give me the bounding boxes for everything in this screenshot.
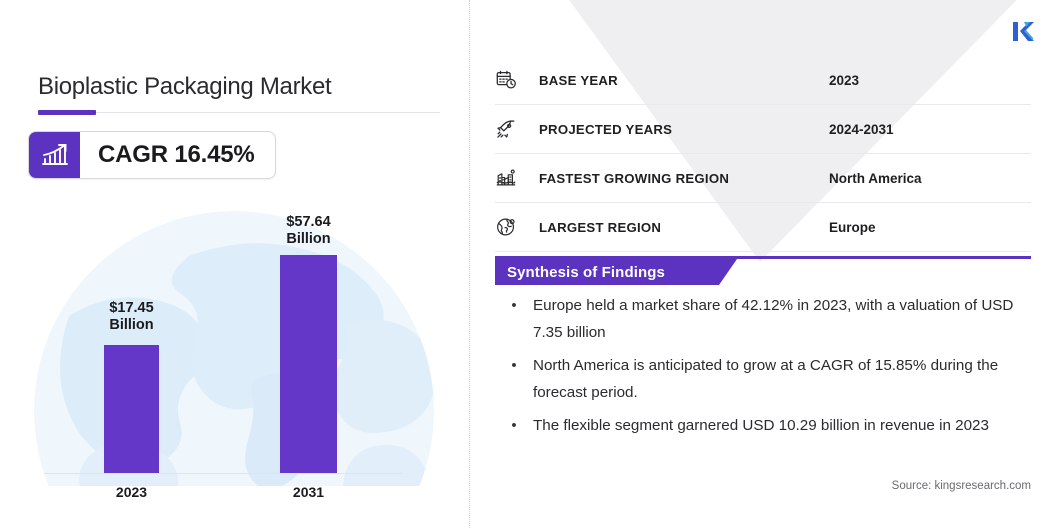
bullet-glyph: •: [495, 292, 533, 319]
factory-city-icon: [495, 167, 539, 189]
table-row: BASE YEAR 2023: [495, 56, 1031, 105]
finding-text: North America is anticipated to grow at …: [533, 352, 1015, 406]
right-panel: BASE YEAR 2023 PROJECTED YEARS: [470, 0, 1056, 528]
synthesis-heading: Synthesis of Findings: [507, 259, 665, 285]
row-value: North America: [829, 171, 922, 186]
list-item: • North America is anticipated to grow a…: [495, 352, 1015, 406]
bar-value-amount-2031: $57.64: [286, 214, 330, 230]
list-item: • The flexible segment garnered USD 10.2…: [495, 412, 1015, 439]
x-axis-line: [44, 473, 402, 474]
globe-icon: [495, 216, 539, 238]
infographic-page: Bioplastic Packaging Market: [0, 0, 1056, 528]
bullet-glyph: •: [495, 352, 533, 379]
list-item: • Europe held a market share of 42.12% i…: [495, 292, 1015, 346]
row-value: Europe: [829, 220, 876, 235]
findings-list: • Europe held a market share of 42.12% i…: [495, 292, 1015, 445]
key-value-table: BASE YEAR 2023 PROJECTED YEARS: [495, 56, 1031, 252]
table-row: PROJECTED YEARS 2024-2031: [495, 105, 1031, 154]
bar-2031: [280, 255, 337, 473]
finding-text: The flexible segment garnered USD 10.29 …: [533, 412, 989, 439]
source-attribution: Source: kingsresearch.com: [470, 480, 1031, 492]
calendar-clock-icon: [495, 69, 539, 91]
row-value: 2024-2031: [829, 122, 894, 137]
row-label: LARGEST REGION: [539, 220, 829, 235]
row-label: FASTEST GROWING REGION: [539, 171, 829, 186]
row-label: BASE YEAR: [539, 73, 829, 88]
x-axis-label-2023: 2023: [83, 484, 180, 500]
rocket-icon: [495, 118, 539, 140]
kings-research-logo: [1007, 14, 1041, 48]
table-row: LARGEST REGION Europe: [495, 203, 1031, 252]
bar-value-unit-2031: Billion: [286, 231, 330, 247]
bar-value-label-2023: $17.45 Billion: [83, 300, 180, 334]
x-axis-label-2031: 2031: [259, 484, 358, 500]
finding-text: Europe held a market share of 42.12% in …: [533, 292, 1015, 346]
row-label: PROJECTED YEARS: [539, 122, 829, 137]
table-row: FASTEST GROWING REGION North America: [495, 154, 1031, 203]
bar-value-label-2031: $57.64 Billion: [259, 214, 358, 248]
bullet-glyph: •: [495, 412, 533, 439]
row-value: 2023: [829, 73, 859, 88]
bar-chart: $17.45 Billion $57.64 Billion 2023 2031: [0, 0, 469, 528]
left-panel: Bioplastic Packaging Market: [0, 0, 469, 528]
bar-value-amount-2023: $17.45: [109, 300, 153, 316]
bar-2023: [104, 345, 159, 473]
bar-value-unit-2023: Billion: [109, 317, 153, 333]
